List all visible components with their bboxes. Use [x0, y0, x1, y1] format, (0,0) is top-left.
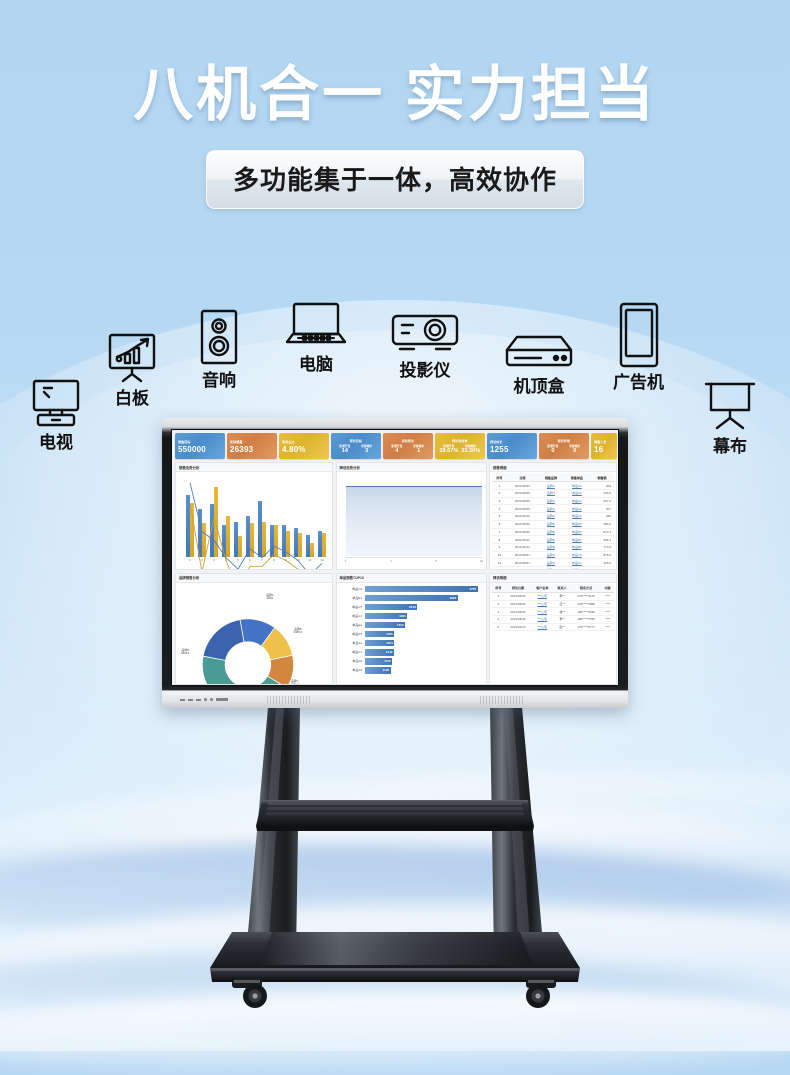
panel-sales-detail: 销售明细 序号日期销售品牌销售单品销售额 12021/05/04品牌A单品A64… [489, 462, 617, 570]
table-row[interactable]: 82021/05/11品牌B单品B1906.4 [492, 536, 614, 544]
table-cell: 品牌B [538, 520, 564, 528]
table-cell: 品牌C [538, 551, 564, 559]
bar-category-label: 单品C1 [339, 650, 365, 654]
kpi-sub-new: 新增开发 28.67% [438, 444, 460, 454]
table-cell: 384.2 [590, 520, 614, 528]
dashboard-row-1: 销售走势分析 123456789101112 拜访走势分析 [175, 462, 617, 570]
table-cell: **** [601, 592, 614, 600]
kpi-value: 4.80% [282, 445, 326, 454]
kpi-title: 拜访目标 [334, 438, 378, 443]
kpi-card-completion-rate[interactable]: 完成占比 4.80% [279, 433, 329, 459]
panel-title: 品牌销售分析 [176, 574, 332, 583]
table-cell: 赵** [553, 623, 570, 631]
table-row[interactable]: 22021/05/05品牌A单品A3296.6 [492, 490, 614, 498]
panel-visit-detail: 拜访明细 序号拜访日期客户名称联系人联系方式内容 12021/05/02***公… [489, 573, 617, 685]
table-column-header[interactable]: 日期 [507, 473, 538, 482]
kpi-sub-value: 0 [542, 448, 564, 454]
chart-x-tick: 11 [308, 558, 311, 562]
bar-category-label: 单品A1 [339, 641, 365, 645]
table-cell: 品牌A [538, 505, 564, 513]
bar-fill: 1159 [365, 658, 393, 664]
table-cell: ***公司 [531, 592, 553, 600]
table-row[interactable]: 112021/06/01品牌C单品C1305.6 [492, 559, 614, 567]
table-cell: 172*****0777 [571, 623, 602, 631]
table-cell: 单品B1 [564, 536, 590, 544]
sales-detail-table[interactable]: 序号日期销售品牌销售单品销售额 12021/05/04品牌A单品A6403220… [492, 473, 614, 570]
tv-port-indicators [180, 698, 228, 701]
table-row[interactable]: 52021/06/10***公司赵**172*****0777**** [492, 623, 614, 631]
panel-visit-trend: 拜访走势分析 23920 [336, 462, 487, 570]
table-column-header[interactable]: 销售品牌 [538, 473, 564, 482]
kpi-card-actual-sales[interactable]: 实际销量 26393 [227, 433, 277, 459]
bar-row[interactable]: 单品A51159 [339, 657, 484, 665]
chart-x-tick: 10 [296, 558, 299, 562]
chart-area-fill [346, 486, 482, 556]
table-cell: 4 [492, 615, 505, 623]
stand-base [210, 932, 580, 982]
bar-fill: 1255 [365, 631, 395, 637]
chart-x-tick: 4 [225, 558, 227, 562]
bar-row[interactable]: 单品C41800 [339, 612, 484, 620]
table-row[interactable]: 122021/05/02品牌C单品C31220.6 [492, 566, 614, 570]
chart-x-tick: 3 [390, 559, 392, 563]
table-cell: 2021/05/09 [507, 505, 538, 513]
kpi-title: 拜访时长 [490, 439, 534, 444]
table-cell: 2021/05/02 [507, 528, 538, 536]
table-column-header[interactable]: 拜访日期 [505, 584, 532, 593]
table-cell: 单品C5 [564, 551, 590, 559]
kpi-title: 拜访完成率 [438, 438, 482, 443]
table-row[interactable]: 12021/05/04品牌A单品A6403 [492, 482, 614, 490]
table-cell: 李** [553, 615, 570, 623]
kpi-value: 1255 [490, 445, 534, 454]
table-cell: 品牌A [538, 490, 564, 498]
panel-title: 拜访走势分析 [337, 463, 486, 472]
table-cell: 2021/05/09 [507, 497, 538, 505]
table-cell: 单品A5 [564, 505, 590, 513]
panel-title: 拜访明细 [490, 574, 616, 583]
table-cell: 3 [492, 608, 505, 616]
chart-x-tick: 20 [480, 559, 483, 563]
chart-x-axis: 23920 [346, 557, 482, 565]
table-cell: 品牌C [538, 559, 564, 567]
table-column-header[interactable]: 序号 [492, 584, 505, 593]
table-cell: 460 [590, 513, 614, 521]
table-cell: 品牌A [538, 513, 564, 521]
table-row[interactable]: 72021/05/02品牌B单品B3873.1 [492, 528, 614, 536]
table-cell: 1220.6 [590, 566, 614, 570]
donut-slice-label: 品牌C2450.4 [290, 680, 299, 685]
table-cell: **** [601, 623, 614, 631]
bar-row[interactable]: 单品A31100 [339, 666, 484, 674]
kpi-sub-existing: 老客维护 1 [408, 444, 430, 454]
kpi-sub-value: 28.67% [438, 448, 460, 454]
table-row[interactable]: 92021/06/12品牌B单品B1774.6 [492, 543, 614, 551]
table-cell: 2 [492, 600, 505, 608]
table-column-header[interactable]: 联系方式 [571, 584, 602, 593]
chart-x-tick: 8 [273, 558, 275, 562]
bar-category-label: 单品A5 [339, 659, 365, 663]
table-cell: 774.6 [590, 543, 614, 551]
bar-track: 1254 [365, 640, 484, 646]
bar-track: 1100 [365, 667, 484, 673]
stand-middle-shelf [256, 800, 534, 831]
bar-category-label: 单品E2 [339, 623, 365, 627]
chart-trend-lines [184, 477, 328, 570]
table-column-header[interactable]: 序号 [492, 473, 507, 482]
kpi-title: 销售目标 [178, 439, 222, 444]
brand-sales-donut-chart[interactable]: 品牌A2654品牌B2435.6品牌C2450.4品牌D9209.1 [178, 585, 330, 685]
table-column-header[interactable]: 客户名称 [531, 584, 553, 593]
panel-sku-top10: 单品销售TOP10 单品C64752单品E13920单品C52219单品C418… [336, 573, 487, 685]
table-cell: 2021/05/02 [507, 520, 538, 528]
panel-title: 单品销售TOP10 [337, 574, 486, 583]
table-row[interactable]: 32021/05/09品牌A单品A3657.2 [492, 497, 614, 505]
table-cell: 10 [492, 551, 507, 559]
chart-x-tick: 9 [435, 559, 437, 563]
chart-line [190, 483, 322, 570]
table-cell: 品牌B [538, 543, 564, 551]
table-header-row: 序号日期销售品牌销售单品销售额 [492, 473, 614, 482]
table-cell: 单品A3 [564, 497, 590, 505]
chart-x-tick: 2 [345, 559, 347, 563]
kpi-card-sales-staff[interactable]: 销售人员 16 [591, 433, 617, 459]
table-cell: 单品A3 [564, 490, 590, 498]
speaker-grill-left [267, 696, 312, 704]
table-cell: 307 [590, 505, 614, 513]
donut-slice-label: 品牌A2654 [266, 594, 273, 601]
table-cell: 2021/05/03 [505, 600, 532, 608]
table-cell: 品牌B [538, 536, 564, 544]
kpi-value: 26393 [230, 445, 274, 454]
chart-x-tick: 3 [213, 558, 215, 562]
chart-x-axis: 123456789101112 [184, 558, 328, 567]
table-cell: 2021/06/10 [505, 623, 532, 631]
kpi-sub-value: 0 [564, 448, 586, 454]
table-cell: 12 [492, 566, 507, 570]
bar-track: 3920 [365, 595, 484, 601]
table-cell: 单品A6 [564, 482, 590, 490]
kpi-title: 完成占比 [282, 439, 326, 444]
bar-fill: 3920 [365, 595, 458, 601]
kpi-sub-new: 新增开发 4 [386, 444, 408, 454]
bar-fill: 2219 [365, 604, 418, 610]
table-cell: 品牌B [538, 528, 564, 536]
table-row[interactable]: 42021/05/09***公司李**188*****2789**** [492, 615, 614, 623]
table-cell: 2021/06/01 [507, 551, 538, 559]
bar-row[interactable]: 单品C64752 [339, 585, 484, 593]
table-cell: 品牌A [538, 497, 564, 505]
dashboard-row-2: 品牌销售分析 品牌A2654品牌B2435.6品牌C2450.4品牌D9209.… [175, 573, 617, 685]
chart-x-tick: 5 [237, 558, 239, 562]
table-row[interactable]: 12021/05/02***公司黄**176*****0175**** [492, 592, 614, 600]
bar-fill: 1254 [365, 640, 395, 646]
panel-title: 销售明细 [490, 463, 616, 472]
panel-title: 销售走势分析 [176, 463, 332, 472]
bar-track: 1159 [365, 658, 484, 664]
panel-brand-sales: 品牌销售分析 品牌A2654品牌B2435.6品牌C2450.4品牌D9209.… [175, 573, 333, 685]
table-cell: 2021/05/09 [505, 615, 532, 623]
table-cell: 876.6 [590, 551, 614, 559]
table-column-header[interactable]: 内容 [601, 584, 614, 593]
table-cell: 403 [590, 482, 614, 490]
bar-fill: 1800 [365, 613, 408, 619]
bar-category-label: 单品C5 [339, 605, 365, 609]
bar-row[interactable]: 单品D51255 [339, 630, 484, 638]
table-cell: **** [601, 615, 614, 623]
table-cell: 品牌A [538, 482, 564, 490]
table-row[interactable]: 52021/06/12品牌A单品A6460 [492, 513, 614, 521]
kpi-card-actual-visit[interactable]: 实际拜访 新增开发 4 老客维护 1 [383, 433, 433, 459]
kpi-sub-new: 新增开发 14 [334, 444, 356, 454]
table-cell: 单品B3 [564, 528, 590, 536]
kpi-sub-value: 33.30% [460, 448, 482, 454]
table-cell: 单品B3 [564, 520, 590, 528]
table-cell: 单品C1 [564, 559, 590, 567]
interactive-flat-panel: 销售目标 550000 实际销量 26393 完成占比 4.80% 拜访目标 新… [162, 418, 628, 708]
tv-bottom-chin [162, 690, 628, 708]
table-cell: 单品A6 [564, 513, 590, 521]
table-row[interactable]: 22021/05/03***公司吕**163*****4088**** [492, 600, 614, 608]
table-cell: 906.4 [590, 536, 614, 544]
table-cell: 林** [553, 608, 570, 616]
bar-category-label: 单品C4 [339, 614, 365, 618]
kpi-sub-value: 3 [356, 448, 378, 454]
table-cell: ***公司 [531, 623, 553, 631]
sales-dashboard: 销售目标 550000 实际销量 26393 完成占比 4.80% 拜访目标 新… [172, 430, 619, 686]
table-cell: 2021/05/02 [505, 592, 532, 600]
table-column-header[interactable]: 销售单品 [564, 473, 590, 482]
bar-track: 2219 [365, 604, 484, 610]
bar-fill: 1100 [365, 667, 391, 673]
table-row[interactable]: 62021/05/02品牌B单品B3384.2 [492, 520, 614, 528]
donut-slice-label: 品牌B2435.6 [294, 628, 303, 635]
table-cell: 2 [492, 490, 507, 498]
kpi-sub-new: 新增开发 0 [542, 444, 564, 454]
table-cell: 11 [492, 559, 507, 567]
table-cell: 2021/06/01 [507, 559, 538, 567]
table-cell: 8 [492, 536, 507, 544]
table-row[interactable]: 42021/05/09品牌A单品A5307 [492, 505, 614, 513]
table-cell: 1 [492, 482, 507, 490]
table-cell: 5 [492, 513, 507, 521]
kpi-sub-existing: 老客维护 0 [564, 444, 586, 454]
table-cell: 176*****0175 [571, 592, 602, 600]
chart-x-tick: 9 [285, 558, 287, 562]
table-row[interactable]: 102021/06/01品牌C单品C5876.6 [492, 551, 614, 559]
speaker-grill-right [480, 696, 525, 704]
table-cell: 6 [492, 520, 507, 528]
kpi-card-sales-target[interactable]: 销售目标 550000 [175, 433, 225, 459]
table-cell: 2021/05/03 [505, 608, 532, 616]
bar-track: 1242 [365, 649, 484, 655]
table-cell: 7 [492, 528, 507, 536]
bar-track: 4752 [365, 586, 484, 592]
table-cell: ***公司 [531, 615, 553, 623]
table-cell: 2021/05/05 [507, 490, 538, 498]
table-column-header[interactable]: 销售额 [590, 473, 614, 482]
bar-category-label: 单品D5 [339, 632, 365, 636]
donut-slice-label: 品牌D9209.1 [181, 649, 190, 656]
table-cell: **** [601, 608, 614, 616]
kpi-card-visit-completion[interactable]: 拜访完成率 新增开发 28.67% 老客维护 33.30% [435, 433, 485, 459]
stand-caster-right [526, 978, 556, 1008]
kpi-sub-value: 4 [386, 448, 408, 454]
table-cell: 2021/06/12 [507, 513, 538, 521]
donut-slice[interactable] [203, 619, 244, 660]
bar-category-label: 单品A3 [339, 668, 365, 672]
kpi-card-visit-duration[interactable]: 拜访时长 1255 [487, 433, 537, 459]
visit-trend-chart[interactable]: 23920 [339, 474, 484, 567]
kpi-card-row: 销售目标 550000 实际销量 26393 完成占比 4.80% 拜访目标 新… [175, 433, 617, 459]
table-cell: 657.2 [590, 497, 614, 505]
panel-sales-trend: 销售走势分析 123456789101112 [175, 462, 333, 570]
kpi-title: 拜访异常 [542, 438, 586, 443]
table-cell: 2021/06/12 [507, 543, 538, 551]
table-cell: 黄** [553, 592, 570, 600]
bar-track: 1800 [365, 613, 484, 619]
table-cell: **** [601, 600, 614, 608]
tv-screen[interactable]: 销售目标 550000 实际销量 26393 完成占比 4.80% 拜访目标 新… [171, 429, 619, 686]
table-cell: 873.1 [590, 528, 614, 536]
bar-track: 1709 [365, 622, 484, 628]
table-cell: 3 [492, 497, 507, 505]
kpi-title: 实际销量 [230, 439, 274, 444]
bar-row[interactable]: 单品A11254 [339, 639, 484, 647]
table-cell: 305.6 [590, 559, 614, 567]
bar-fill: 1709 [365, 622, 406, 628]
bar-row[interactable]: 单品E13920 [339, 594, 484, 602]
kpi-sub-value: 14 [334, 448, 356, 454]
kpi-card-visit-anomaly[interactable]: 拜访异常 新增开发 0 老客维护 0 [539, 433, 589, 459]
table-cell: 2021/05/04 [507, 482, 538, 490]
chart-x-tick: 1 [189, 558, 191, 562]
table-cell: 吕** [553, 600, 570, 608]
chart-x-tick: 6 [249, 558, 251, 562]
bar-fill: 1242 [365, 649, 395, 655]
table-cell: ***公司 [531, 608, 553, 616]
kpi-title: 销售人员 [594, 439, 614, 444]
bar-row[interactable]: 单品E21709 [339, 621, 484, 629]
bar-row[interactable]: 单品C11242 [339, 648, 484, 656]
chart-x-tick: 12 [320, 558, 323, 562]
chart-x-tick: 2 [201, 558, 203, 562]
table-column-header[interactable]: 联系人 [553, 584, 570, 593]
kpi-sub-existing: 老客维护 3 [356, 444, 378, 454]
bar-track: 1255 [365, 631, 484, 637]
kpi-value: 16 [594, 445, 614, 454]
kpi-card-visit-target[interactable]: 拜访目标 新增开发 14 老客维护 3 [331, 433, 381, 459]
table-cell: 2021/05/11 [507, 536, 538, 544]
bar-fill: 4752 [365, 586, 478, 592]
sales-trend-chart[interactable]: 123456789101112 [178, 474, 330, 567]
table-cell: ***公司 [531, 600, 553, 608]
kpi-sub-existing: 老客维护 33.30% [460, 444, 482, 454]
stand-caster-left [232, 978, 267, 1008]
kpi-sub-value: 1 [408, 448, 430, 454]
table-cell: 163*****4088 [571, 600, 602, 608]
bar-category-label: 单品E1 [339, 596, 365, 600]
table-cell: 1 [492, 592, 505, 600]
table-cell: 9 [492, 543, 507, 551]
table-cell: 296.6 [590, 490, 614, 498]
table-cell: 单品B1 [564, 543, 590, 551]
table-row[interactable]: 32021/05/03***公司林**184*****6030**** [492, 608, 614, 616]
table-cell: 184*****6030 [571, 608, 602, 616]
table-cell: 4 [492, 505, 507, 513]
table-cell: 2021/05/02 [507, 566, 538, 570]
kpi-title: 实际拜访 [386, 438, 430, 443]
kpi-value: 550000 [178, 445, 222, 454]
bar-row[interactable]: 单品C52219 [339, 603, 484, 611]
table-cell: 5 [492, 623, 505, 631]
donut-svg [178, 585, 330, 685]
chart-x-tick: 7 [261, 558, 263, 562]
table-cell: 品牌C [538, 566, 564, 570]
table-cell: 188*****2789 [571, 615, 602, 623]
visit-detail-table[interactable]: 序号拜访日期客户名称联系人联系方式内容 12021/05/02***公司黄**1… [492, 584, 614, 632]
table-header-row: 序号拜访日期客户名称联系人联系方式内容 [492, 584, 614, 593]
sku-top10-chart[interactable]: 单品C64752单品E13920单品C52219单品C41800单品E21709… [337, 583, 486, 684]
table-cell: 单品C3 [564, 566, 590, 570]
bar-category-label: 单品C6 [339, 587, 365, 591]
